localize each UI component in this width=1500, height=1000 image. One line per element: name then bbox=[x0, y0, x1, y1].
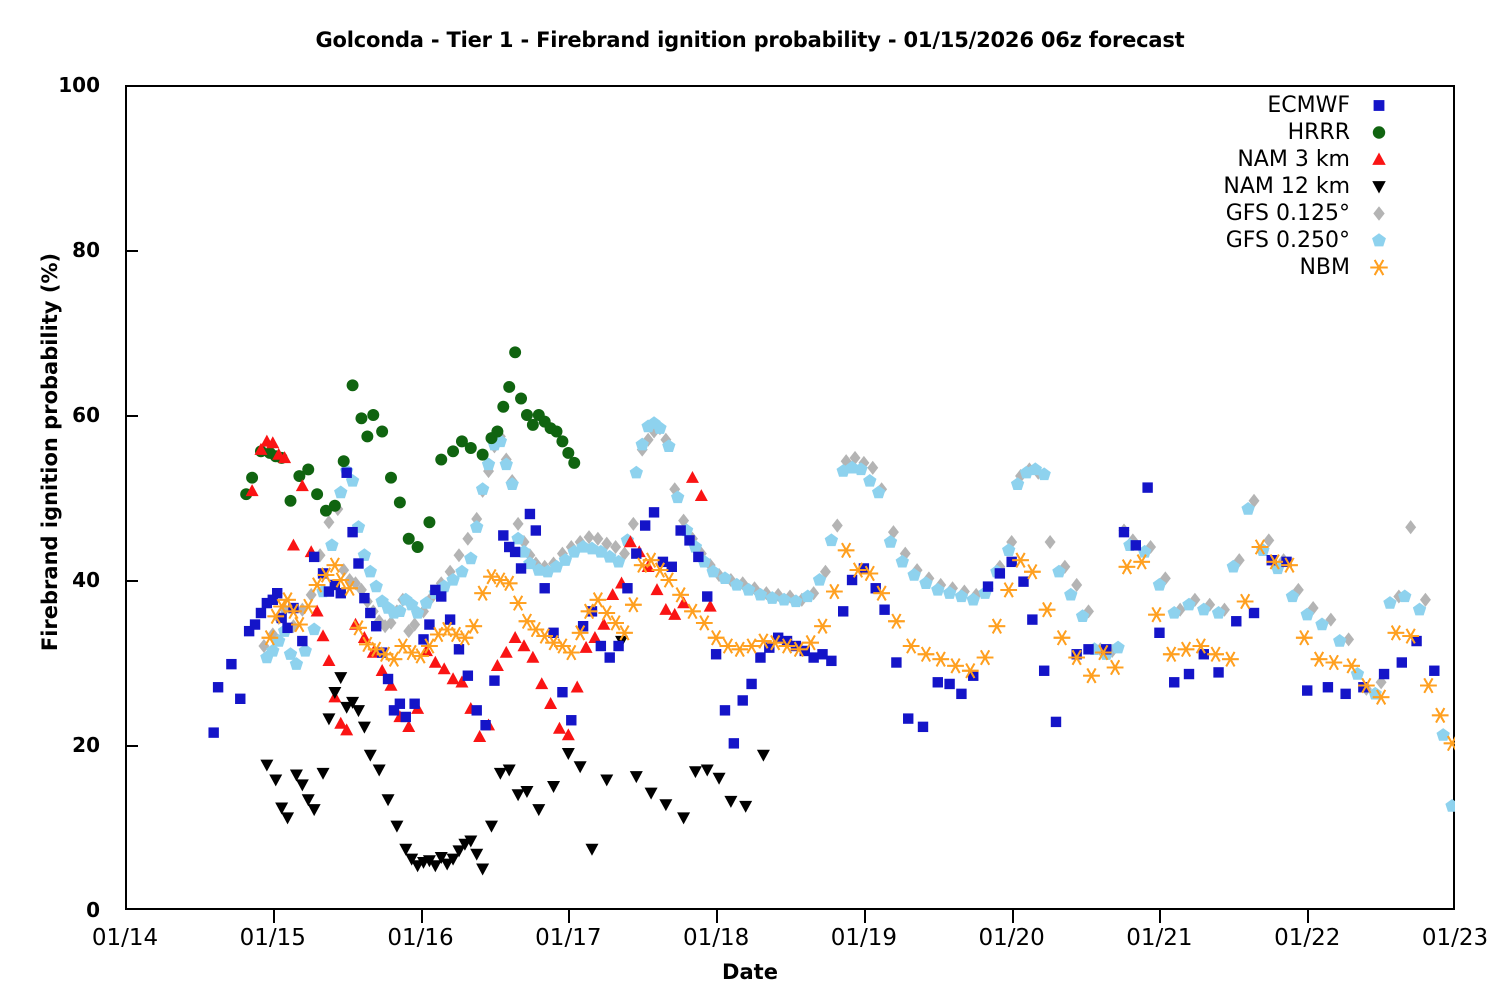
y-tick-mark bbox=[125, 250, 138, 252]
y-tick-label: 20 bbox=[0, 733, 100, 757]
series-hrrr bbox=[240, 346, 580, 553]
x-tick-label: 01/16 bbox=[361, 925, 481, 951]
legend-label: GFS 0.250° bbox=[1226, 227, 1350, 254]
legend-label: HRRR bbox=[1288, 119, 1350, 146]
y-tick-label: 0 bbox=[0, 898, 100, 922]
legend-item-nbm[interactable]: NBM bbox=[1150, 254, 1395, 281]
x-tick-mark bbox=[864, 910, 866, 923]
legend-label: NBM bbox=[1299, 254, 1350, 281]
y-axis bbox=[20, 85, 120, 910]
legend-item-ecmwf[interactable]: ECMWF bbox=[1150, 92, 1395, 119]
legend-item-gfs-0-125[interactable]: GFS 0.125° bbox=[1150, 200, 1395, 227]
chart-canvas: Golconda - Tier 1 - Firebrand ignition p… bbox=[0, 0, 1500, 1000]
legend: ECMWFHRRRNAM 3 kmNAM 12 kmGFS 0.125°GFS … bbox=[1150, 92, 1395, 281]
x-tick-label: 01/19 bbox=[804, 925, 924, 951]
asterisk-marker-icon bbox=[1363, 254, 1395, 281]
x-tick-label: 01/15 bbox=[213, 925, 333, 951]
series-nam-12-km bbox=[260, 636, 770, 876]
y-tick-mark bbox=[125, 415, 138, 417]
x-axis-label: Date bbox=[0, 960, 1500, 984]
x-tick-label: 01/23 bbox=[1395, 925, 1500, 951]
x-tick-mark bbox=[421, 910, 423, 923]
x-tick-mark bbox=[716, 910, 718, 923]
legend-item-gfs-0-250[interactable]: GFS 0.250° bbox=[1150, 227, 1395, 254]
legend-item-nam-3-km[interactable]: NAM 3 km bbox=[1150, 146, 1395, 173]
y-tick-label: 40 bbox=[0, 568, 100, 592]
legend-item-hrrr[interactable]: HRRR bbox=[1150, 119, 1395, 146]
square-marker-icon bbox=[1363, 92, 1395, 119]
x-tick-label: 01/17 bbox=[508, 925, 628, 951]
x-tick-mark bbox=[1159, 910, 1161, 923]
legend-label: NAM 12 km bbox=[1223, 173, 1350, 200]
legend-label: NAM 3 km bbox=[1237, 146, 1350, 173]
pentagon-marker-icon bbox=[1363, 227, 1395, 254]
series-gfs-0-125 bbox=[258, 421, 1430, 696]
x-tick-label: 01/22 bbox=[1247, 925, 1367, 951]
y-tick-label: 100 bbox=[0, 73, 100, 97]
y-tick-mark bbox=[125, 580, 138, 582]
x-tick-mark bbox=[1012, 910, 1014, 923]
x-tick-mark bbox=[273, 910, 275, 923]
legend-item-nam-12-km[interactable]: NAM 12 km bbox=[1150, 173, 1395, 200]
x-tick-mark bbox=[568, 910, 570, 923]
x-tick-label: 01/20 bbox=[952, 925, 1072, 951]
x-tick-label: 01/21 bbox=[1099, 925, 1219, 951]
y-tick-label: 60 bbox=[0, 403, 100, 427]
diamond-marker-icon bbox=[1363, 200, 1395, 227]
page-title: Golconda - Tier 1 - Firebrand ignition p… bbox=[0, 28, 1500, 52]
x-tick-label: 01/14 bbox=[65, 925, 185, 951]
y-tick-mark bbox=[125, 745, 138, 747]
legend-label: ECMWF bbox=[1267, 92, 1350, 119]
triangle-up-marker-icon bbox=[1363, 146, 1395, 173]
x-tick-mark bbox=[1307, 910, 1309, 923]
series-gfs-0-250 bbox=[260, 416, 1455, 811]
x-tick-label: 01/18 bbox=[656, 925, 776, 951]
legend-label: GFS 0.125° bbox=[1226, 200, 1350, 227]
triangle-down-marker-icon bbox=[1363, 173, 1395, 200]
y-tick-label: 80 bbox=[0, 238, 100, 262]
circle-marker-icon bbox=[1363, 119, 1395, 146]
